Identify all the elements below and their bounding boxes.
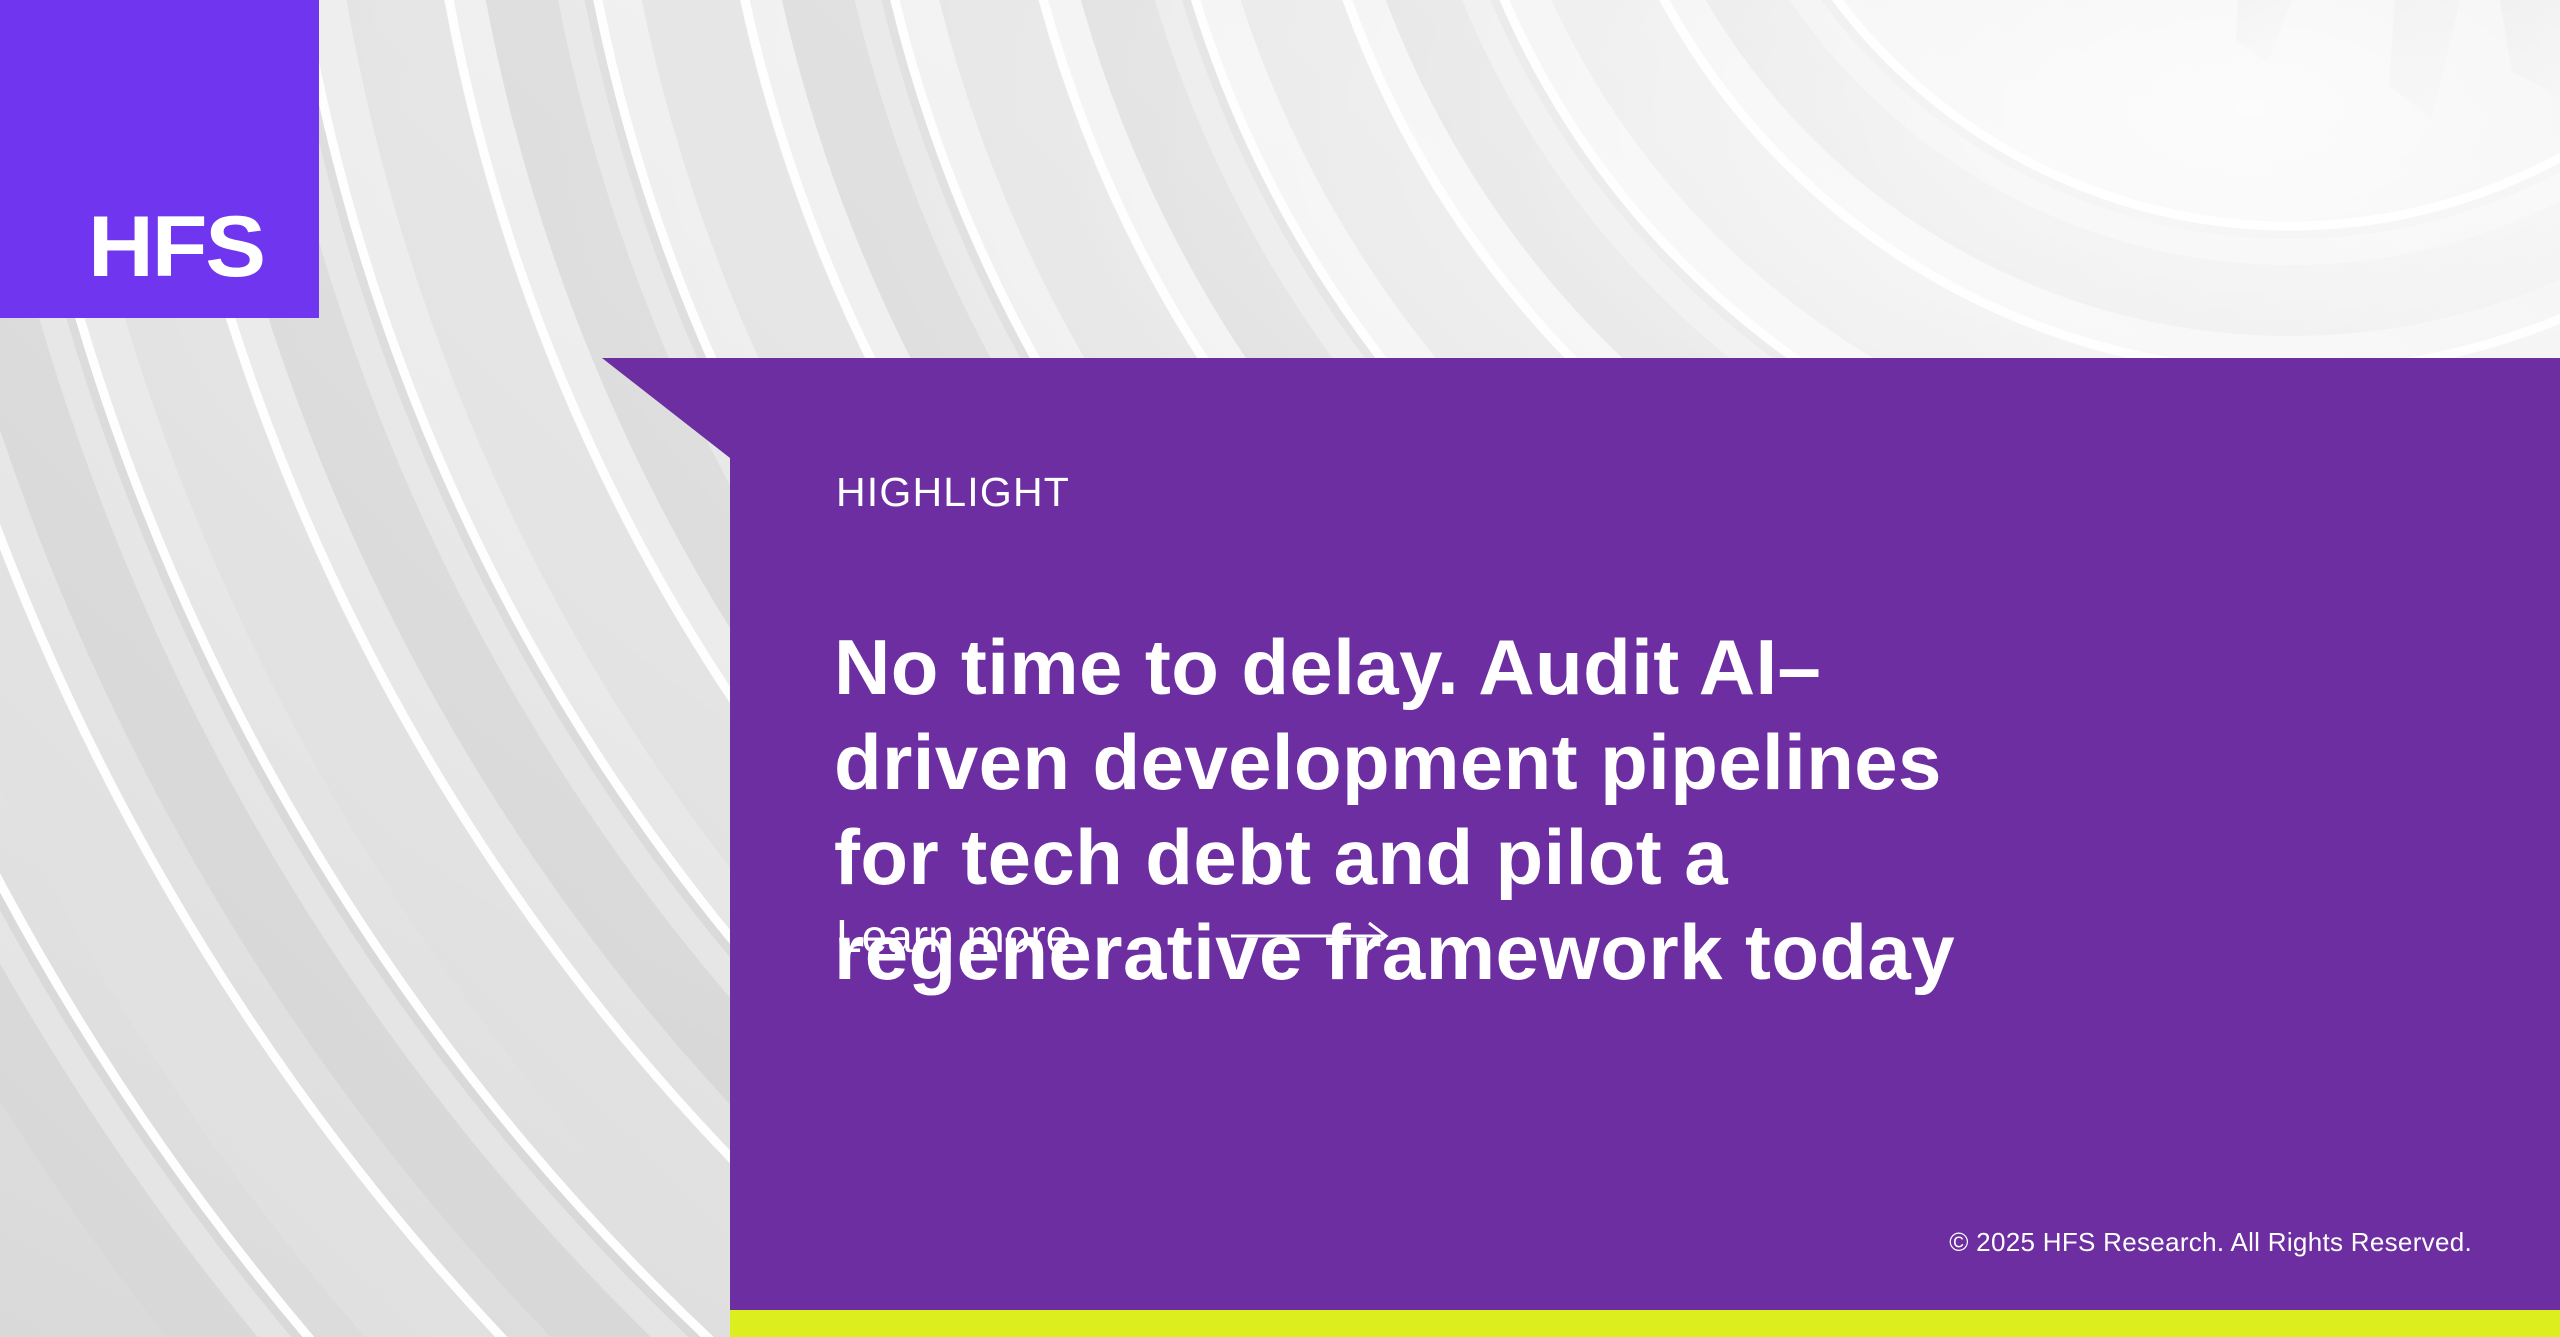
hfs-logo-block[interactable]: HFS — [0, 0, 319, 318]
hfs-logo-wordmark: HFS — [88, 204, 264, 290]
learn-more-link[interactable]: Learn more — [836, 913, 1393, 959]
panel-content: HIGHLIGHT No time to delay. Audit AI– dr… — [730, 358, 2560, 1310]
accent-bar — [730, 1310, 2560, 1337]
learn-more-label: Learn more — [836, 913, 1071, 959]
eyebrow-label: HIGHLIGHT — [836, 472, 1070, 513]
headline-line-3: for tech debt and pilot a — [834, 810, 2514, 905]
highlight-panel: HIGHLIGHT No time to delay. Audit AI– dr… — [602, 358, 2560, 1310]
headline-line-1: No time to delay. Audit AI– — [834, 620, 2514, 715]
arrow-right-icon — [1231, 916, 1393, 956]
headline-line-2: driven development pipelines — [834, 715, 2514, 810]
copyright-notice: © 2025 HFS Research. All Rights Reserved… — [1949, 1229, 2472, 1255]
highlight-banner: HFS HIGHLIGHT No time to delay. Audit AI… — [0, 0, 2560, 1337]
